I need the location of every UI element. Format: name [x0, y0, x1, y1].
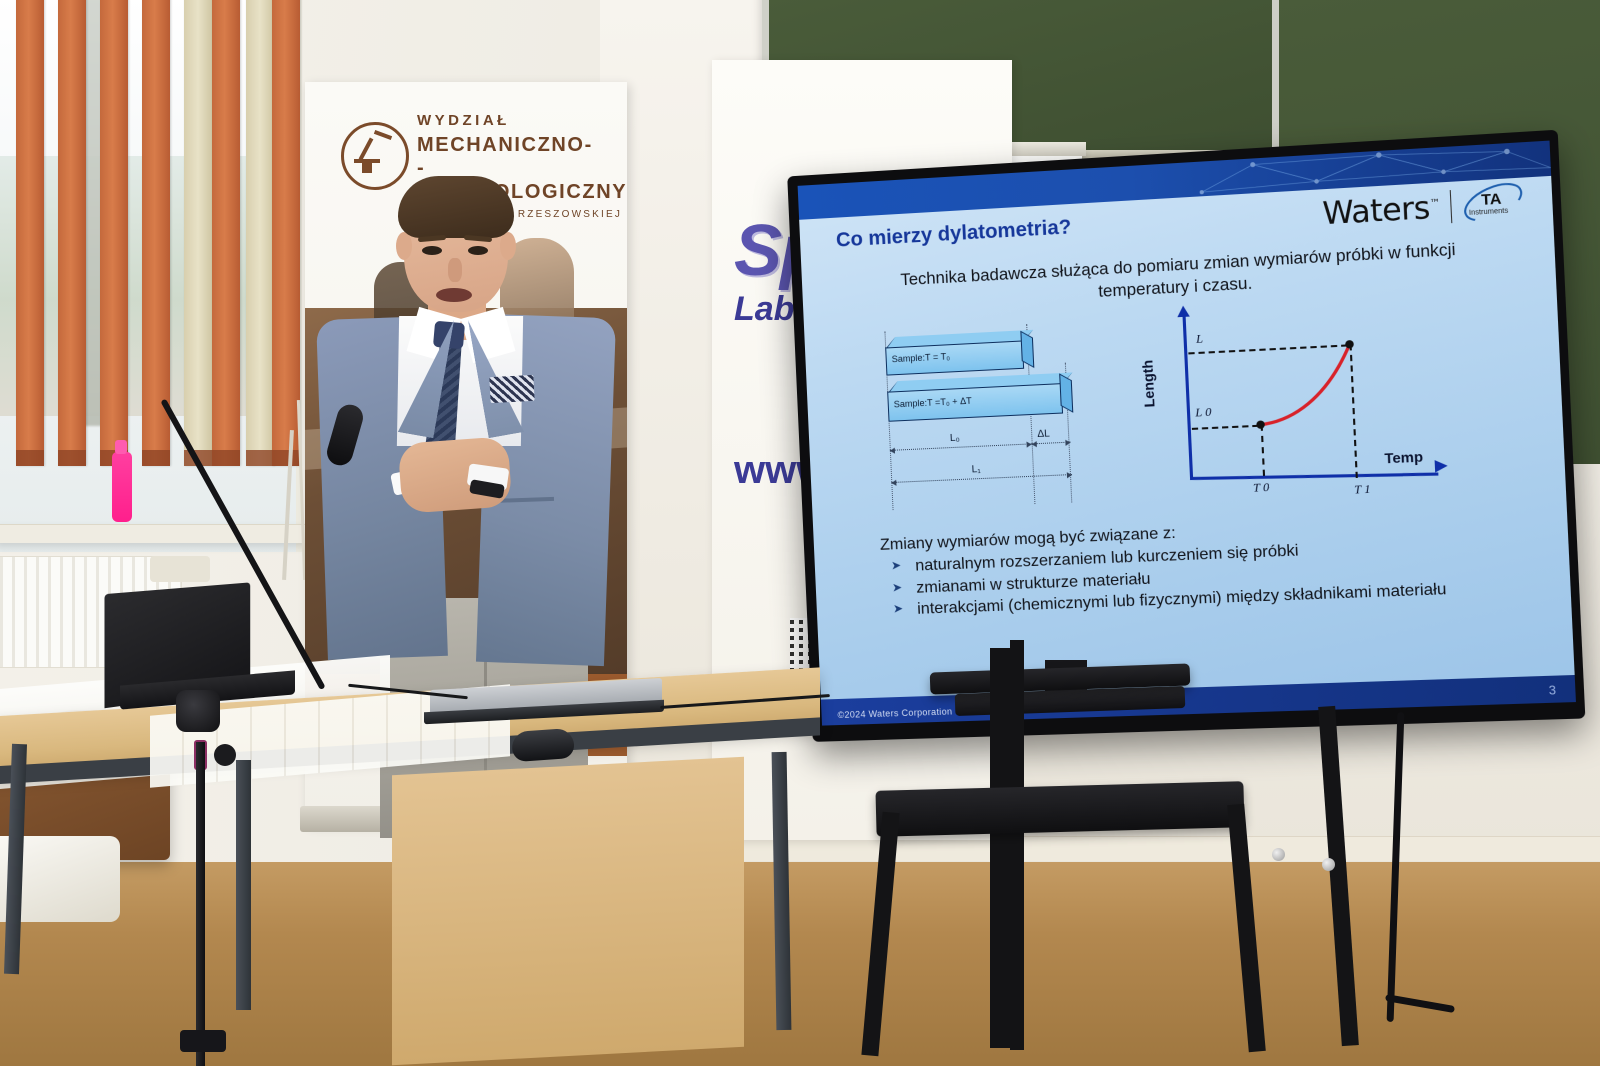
spray-bottle [112, 452, 132, 522]
expansion-curve [1128, 294, 1452, 514]
speaker-eye-right [468, 246, 488, 255]
mic-stand-pole[interactable] [196, 742, 205, 1066]
trademark-icon: ™ [1429, 197, 1440, 209]
presentation-scene: Spe Labora www WYDZIAŁ MECHANICZNO- -TEC… [0, 0, 1600, 1066]
speaker-eye-left [422, 246, 442, 255]
robot-arm-logo-icon [341, 122, 409, 190]
speaker-hair [398, 176, 514, 238]
speaker-mouth [436, 288, 472, 302]
mic-adjust-knob[interactable] [214, 744, 236, 766]
blind-slat[interactable] [58, 0, 86, 466]
blind-slat[interactable] [272, 0, 300, 466]
blind-slat[interactable] [184, 0, 212, 466]
stand-column [1010, 640, 1024, 1050]
dimension-l1 [891, 474, 1072, 484]
mic-joint[interactable] [176, 690, 220, 732]
blind-slat[interactable] [100, 0, 128, 466]
stand-bolt [1272, 848, 1285, 861]
computer-mouse[interactable] [511, 728, 575, 762]
brand-logo: Waters™ TA Instruments [1322, 184, 1528, 233]
dimension-l0-label: L₀ [950, 433, 960, 445]
ta-instruments-logo: TA Instruments [1461, 184, 1527, 225]
blind-slat[interactable] [212, 0, 240, 466]
slide-page-number: 3 [1548, 683, 1556, 698]
banner-left-line1: WYDZIAŁ [417, 112, 627, 130]
pocket-square [489, 375, 534, 403]
table-leg-mid [236, 760, 251, 1010]
stand-lower-shelf [875, 781, 1244, 837]
dimension-l0 [890, 443, 1032, 452]
speaker-ear-right [500, 232, 516, 260]
stand-bolt [1322, 858, 1335, 871]
dimension-dl-label: ΔL [1037, 428, 1050, 440]
blind-slat[interactable] [142, 0, 170, 466]
length-vs-temp-chart: Length Temp L L 0 T 0 T 1 [1128, 294, 1452, 514]
blind-slat[interactable] [246, 0, 274, 466]
blind-slat[interactable] [16, 0, 44, 466]
dimension-dl [1032, 442, 1071, 446]
waters-text: Waters [1322, 190, 1431, 232]
ta-subtext: Instruments [1469, 208, 1509, 217]
stand-column [990, 648, 1012, 1048]
banner-left-line2: MECHANICZNO- [417, 134, 627, 158]
waters-wordmark: Waters™ [1322, 189, 1441, 232]
mic-stand-base [180, 1030, 226, 1052]
brand-divider [1450, 190, 1453, 223]
slide-title: Co mierzy dylatometria? [836, 216, 1072, 253]
dimension-l1-label: L₁ [971, 464, 981, 475]
slide-canvas: Co mierzy dylatometria? Waters™ TA Instr… [798, 141, 1576, 726]
speaker-ear-left [396, 232, 412, 260]
window-sill [0, 524, 306, 543]
table-side-panel [392, 757, 744, 1065]
speaker-nose [448, 258, 462, 282]
radiator-cap [150, 556, 210, 582]
ta-text: TA [1481, 190, 1502, 209]
display-screen[interactable]: Co mierzy dylatometria? Waters™ TA Instr… [787, 130, 1585, 742]
